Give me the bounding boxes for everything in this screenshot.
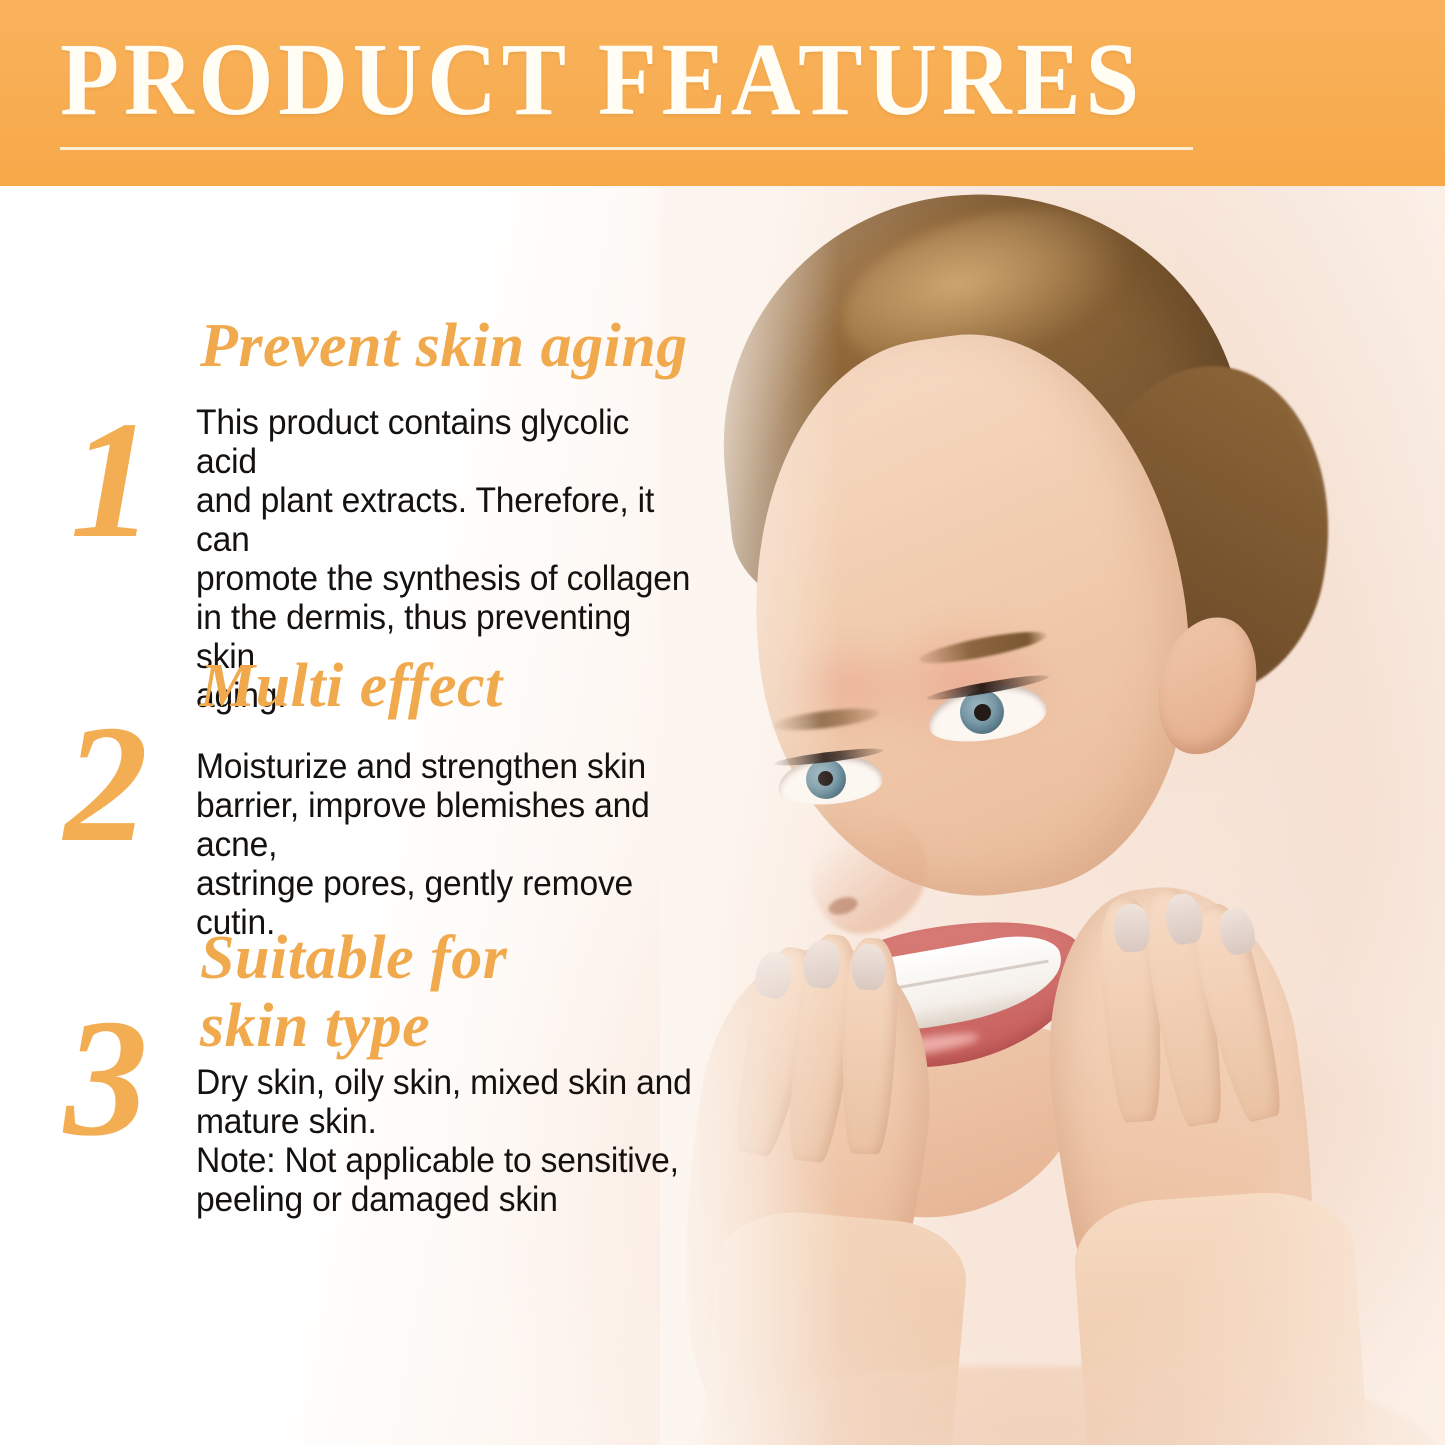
- page-title: PRODUCT FEATURES: [60, 28, 1144, 132]
- feature-heading-2: Multi effect: [200, 652, 840, 720]
- product-features-poster: PRODUCT FEATURES 1 Prevent skin aging Th…: [0, 0, 1445, 1445]
- pupil: [818, 771, 833, 786]
- header-banner: PRODUCT FEATURES: [0, 0, 1445, 186]
- feature-number-3: 3: [64, 994, 148, 1162]
- feature-body-3: Dry skin, oily skin, mixed skin and matu…: [196, 1063, 695, 1219]
- feature-number-2: 2: [64, 700, 148, 868]
- feature-heading-1: Prevent skin aging: [200, 312, 840, 380]
- fingernail: [851, 943, 887, 990]
- feature-heading-3: Suitable for skin type: [200, 924, 680, 1060]
- feature-number-1: 1: [70, 396, 154, 564]
- feature-body-2: Moisturize and strengthen skin barrier, …: [196, 747, 705, 942]
- pupil: [974, 704, 991, 721]
- title-underline: [60, 147, 1193, 150]
